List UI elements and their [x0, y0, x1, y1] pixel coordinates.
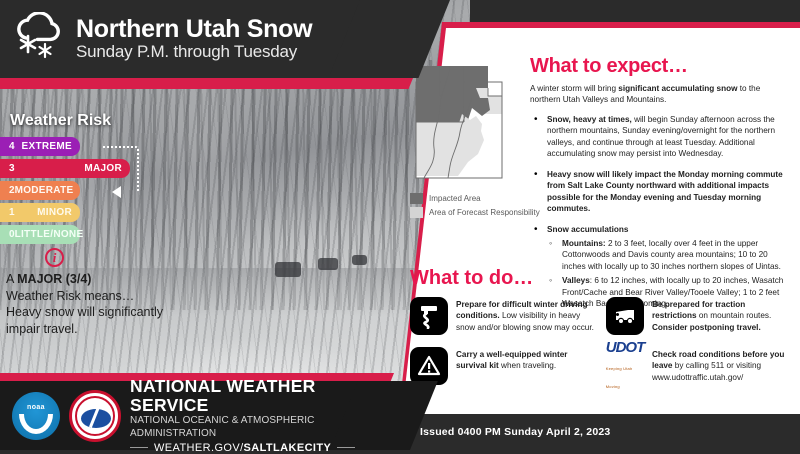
rule-right — [337, 447, 355, 448]
todo-text: Prepare for difficult winter driving con… — [456, 297, 596, 333]
noaa-logo-icon: noaa — [12, 392, 60, 440]
slippery-road-icon — [410, 297, 448, 335]
risk-meaning-text: A MAJOR (3/4) Weather Risk means…Heavy s… — [6, 271, 181, 338]
bullet-bold: Snow, heavy at times, — [547, 115, 632, 124]
nws-wordmark: NATIONAL WEATHER SERVICE NATIONAL OCEANI… — [130, 377, 372, 454]
lead-part-bold: significant accumulating snow — [618, 84, 737, 93]
risk-meaning-block: i A MAJOR (3/4) Weather Risk means…Heavy… — [6, 248, 181, 338]
weather-risk-title: Weather Risk — [10, 112, 210, 130]
issued-timestamp: Issued 0400 PM Sunday April 2, 2023 — [420, 426, 610, 438]
todo-item-survival-kit: Carry a well-equipped winter survival ki… — [410, 347, 596, 385]
accum-title: Snow accumulations — [547, 225, 628, 234]
what-to-expect-title: What to expect… — [530, 56, 792, 76]
bullet-bold: Heavy snow will likely impact the Monday… — [547, 170, 783, 213]
legend-item-responsibility: Area of Forecast Responsibility — [410, 207, 540, 218]
todo-item-road-conditions: UDOT Keeping Utah Moving Check road cond… — [606, 347, 792, 385]
what-to-do-grid: Prepare for difficult winter driving con… — [410, 297, 792, 397]
panel-content: Impacted Area Area of Forecast Responsib… — [402, 28, 800, 414]
vehicle — [275, 262, 301, 277]
info-icon: i — [45, 248, 64, 267]
legend-swatch-responsibility — [410, 207, 423, 218]
issued-bar: Issued 0400 PM Sunday April 2, 2023 — [402, 414, 800, 450]
nws-website: WEATHER.GOV/SALTLAKECITY — [130, 442, 372, 454]
infographic-root: Northern Utah Snow Sunday P.M. through T… — [0, 0, 800, 450]
header-accent-bar — [0, 78, 398, 89]
accum-bold: Mountains: — [562, 239, 606, 248]
snow-cloud-icon — [12, 12, 64, 67]
todo-item-driving: Prepare for difficult winter driving con… — [410, 297, 596, 335]
todo-bold-2: Consider postponing travel. — [652, 323, 761, 332]
legend-label-responsibility: Area of Forecast Responsibility — [429, 208, 540, 217]
vehicle — [318, 258, 338, 270]
nws-website-office: SALTLAKECITY — [244, 442, 332, 454]
todo-text: Be prepared for traction restrictions on… — [652, 297, 792, 333]
risk-meaning-body: Weather Risk means…Heavy snow will signi… — [6, 289, 163, 336]
truck-icon — [606, 297, 644, 335]
risk-selected-arrow-icon — [112, 186, 121, 198]
what-to-do-section: What to do… Prepare for difficult winter… — [410, 268, 792, 397]
map-legend: Impacted Area Area of Forecast Responsib… — [410, 193, 540, 221]
vehicle — [352, 255, 367, 265]
legend-label-impacted: Impacted Area — [429, 194, 481, 203]
nws-logo-icon — [69, 390, 121, 442]
page-subtitle: Sunday P.M. through Tuesday — [76, 42, 312, 62]
udot-tagline: Keeping Utah Moving — [606, 366, 633, 389]
nws-department-name: NATIONAL OCEANIC & ATMOSPHERIC ADMINISTR… — [130, 414, 372, 440]
utah-impact-map — [410, 58, 530, 193]
risk-level-1: 1 MINOR — [0, 203, 80, 222]
todo-item-traction: Be prepared for traction restrictions on… — [606, 297, 792, 335]
noaa-logo-text: noaa — [12, 404, 60, 411]
risk-level-label: MINOR — [15, 207, 72, 218]
udot-wordmark: UDOT — [606, 339, 645, 356]
legend-item-impacted: Impacted Area — [410, 193, 540, 204]
risk-level-label: EXTREME — [15, 141, 72, 152]
risk-level-4: 4 EXTREME — [0, 137, 80, 156]
noaa-bird-shape — [19, 414, 53, 434]
udot-logo-icon: UDOT Keeping Utah Moving — [606, 347, 644, 385]
weather-risk-panel: Weather Risk 4 EXTREME 3 MAJOR 2 MODERAT… — [0, 112, 210, 244]
risk-level-2: 2 MODERATE — [0, 181, 80, 200]
list-item: Heavy snow will likely impact the Monday… — [530, 169, 792, 215]
page-title: Northern Utah Snow — [76, 16, 312, 42]
nws-website-prefix: WEATHER.GOV/ — [154, 442, 244, 454]
callout-leader-line — [103, 146, 139, 192]
todo-rest: when traveling. — [499, 361, 556, 370]
risk-level-label: LITTLE/NONE — [15, 229, 84, 240]
risk-level-label: MODERATE — [15, 185, 74, 196]
warning-triangle-icon — [410, 347, 448, 385]
nws-agency-name: NATIONAL WEATHER SERVICE — [130, 377, 372, 414]
todo-mid: on mountain routes. — [697, 311, 772, 320]
risk-meaning-lead: MAJOR (3/4) — [17, 272, 91, 286]
header-accent-bar-skew — [349, 78, 413, 89]
lead-part-a: A winter storm will bring — [530, 84, 618, 93]
list-item: Snow, heavy at times, will begin Sunday … — [530, 114, 792, 160]
header-content: Northern Utah Snow Sunday P.M. through T… — [0, 0, 404, 78]
risk-level-0: 0 LITTLE/NONE — [0, 225, 80, 244]
rule-left — [130, 447, 148, 448]
legend-swatch-impacted — [410, 193, 423, 204]
todo-text: Check road conditions before you leave b… — [652, 347, 792, 383]
footer-content: noaa NATIONAL WEATHER SERVICE NATIONAL O… — [0, 381, 372, 450]
todo-text: Carry a well-equipped winter survival ki… — [456, 347, 596, 372]
what-to-do-title: What to do… — [410, 268, 792, 288]
what-to-expect-lead: A winter storm will bring significant ac… — [530, 83, 792, 106]
